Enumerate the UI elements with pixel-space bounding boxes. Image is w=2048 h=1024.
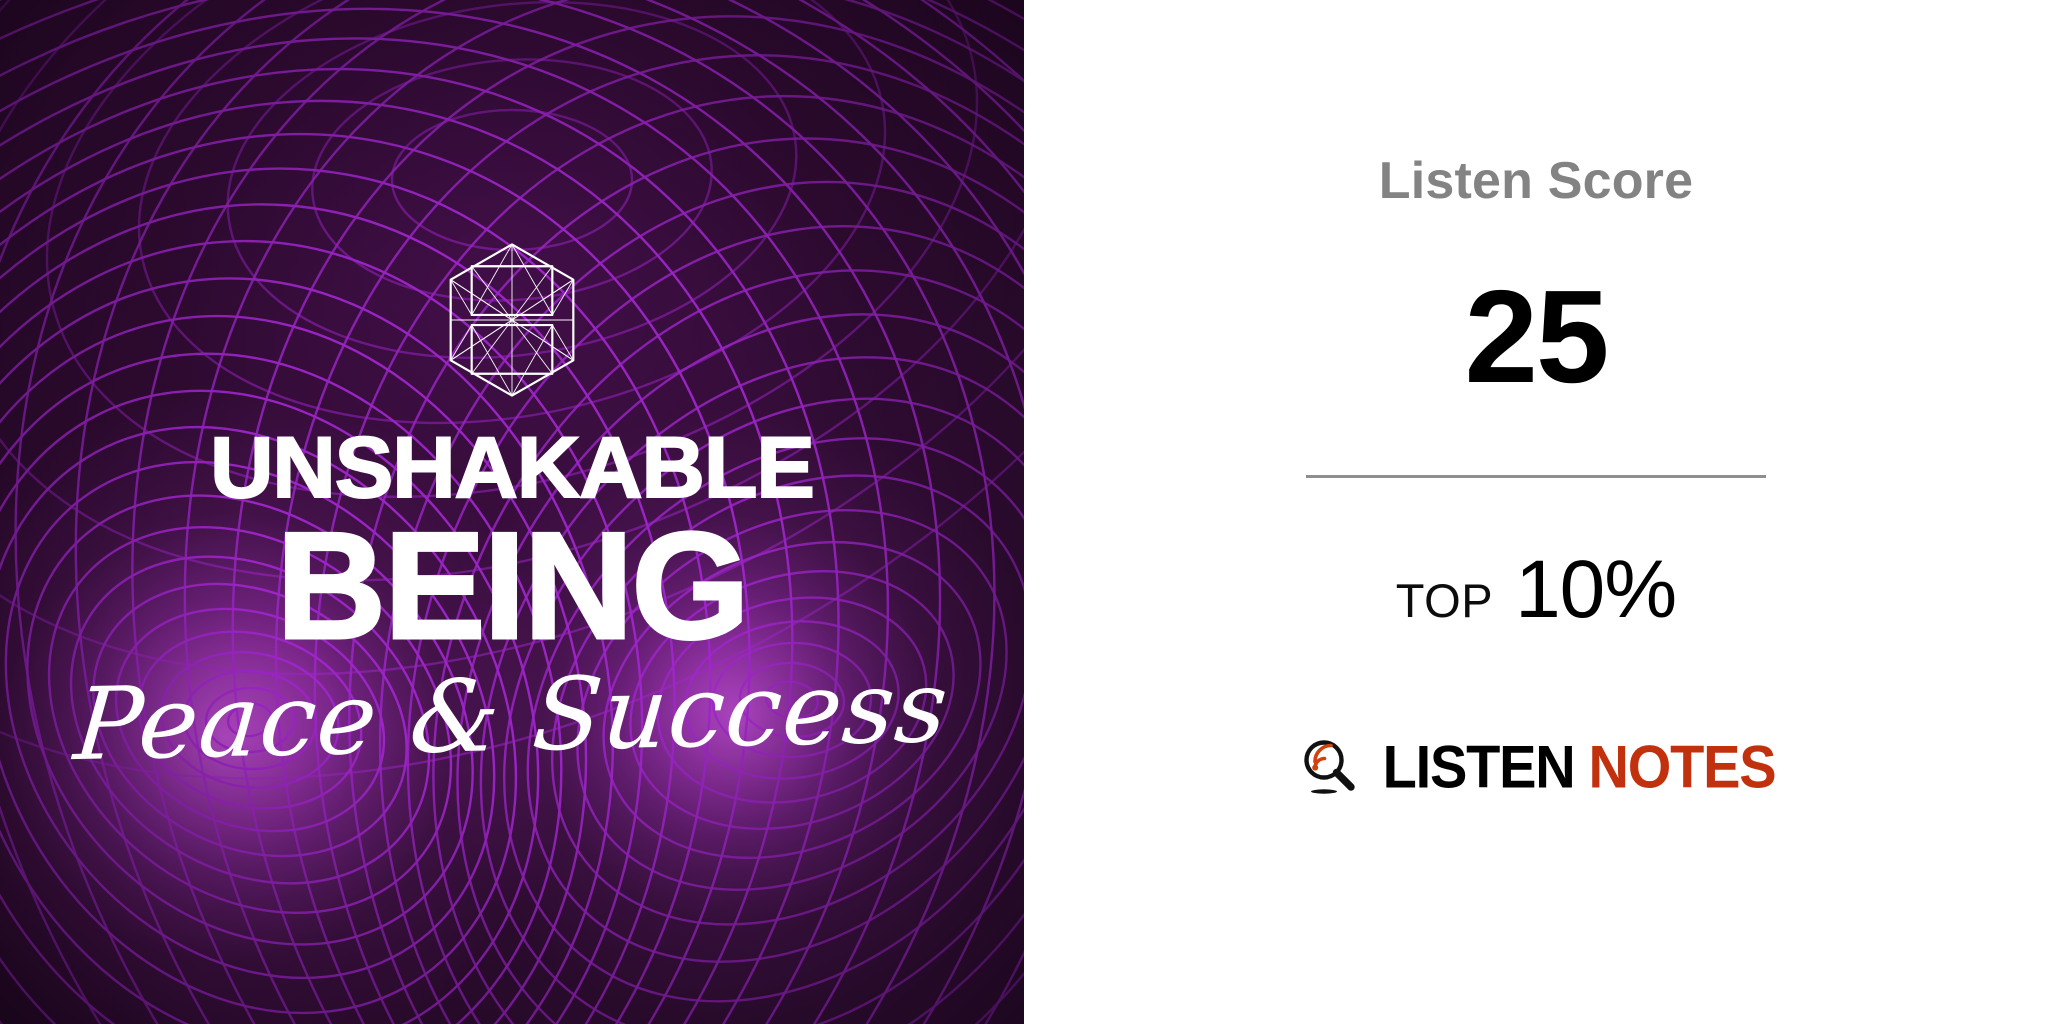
- score-divider: [1306, 475, 1766, 478]
- cover-title-line-2: BEING: [276, 514, 747, 660]
- listen-score-card: UNSHAKABLE BEING Peace & Success Listen …: [0, 0, 2048, 1024]
- cover-title-line-1: UNSHAKABLE: [210, 426, 814, 510]
- brand-word-notes: NOTES: [1589, 737, 1776, 797]
- brand-word-listen: LISTEN: [1383, 737, 1575, 797]
- rank-label: TOP: [1396, 577, 1493, 624]
- listen-score-value: 25: [1465, 271, 1608, 403]
- hexagon-sacred-geometry-icon: [428, 236, 596, 404]
- cover-subtitle-script: Peace & Success: [71, 657, 952, 775]
- listen-score-rank: TOP 10%: [1396, 549, 1676, 631]
- listen-score-heading: Listen Score: [1379, 155, 1694, 207]
- podcast-cover-art[interactable]: UNSHAKABLE BEING Peace & Success: [0, 0, 1024, 1024]
- cover-content: UNSHAKABLE BEING Peace & Success: [0, 0, 1024, 1024]
- listen-score-panel: Listen Score 25 TOP 10% LISTEN NOTES: [1024, 0, 2048, 1024]
- listen-notes-logo[interactable]: LISTEN NOTES: [1297, 735, 1776, 799]
- magnifier-rss-icon: [1297, 735, 1361, 799]
- rank-value: 10%: [1515, 549, 1676, 631]
